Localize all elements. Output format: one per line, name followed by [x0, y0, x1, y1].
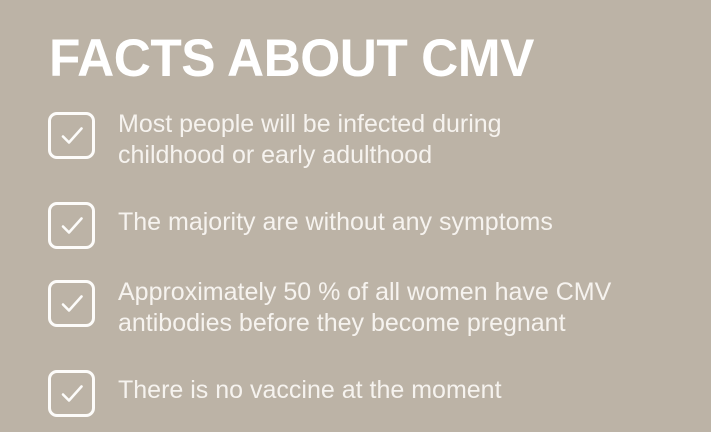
list-item: The majority are without any symptoms — [48, 198, 688, 249]
list-item: Most people will be infected during chil… — [48, 108, 688, 171]
check-icon — [58, 290, 86, 318]
facts-list: Most people will be infected during chil… — [48, 108, 688, 417]
check-icon — [58, 380, 86, 408]
checkbox-checked[interactable] — [48, 280, 95, 327]
checkbox-checked[interactable] — [48, 370, 95, 417]
list-item: There is no vaccine at the moment — [48, 366, 688, 417]
fact-text: The majority are without any symptoms — [118, 198, 553, 238]
check-icon — [58, 122, 86, 150]
checkbox-checked[interactable] — [48, 112, 95, 159]
fact-text: Most people will be infected during chil… — [118, 108, 502, 171]
page-title: FACTS ABOUT CMV — [49, 28, 534, 90]
checkbox-checked[interactable] — [48, 202, 95, 249]
list-item: Approximately 50 % of all women have CMV… — [48, 276, 688, 339]
check-icon — [58, 212, 86, 240]
facts-poster: FACTS ABOUT CMV Most people will be infe… — [0, 0, 711, 432]
fact-text: Approximately 50 % of all women have CMV… — [118, 276, 611, 339]
fact-text: There is no vaccine at the moment — [118, 366, 502, 406]
